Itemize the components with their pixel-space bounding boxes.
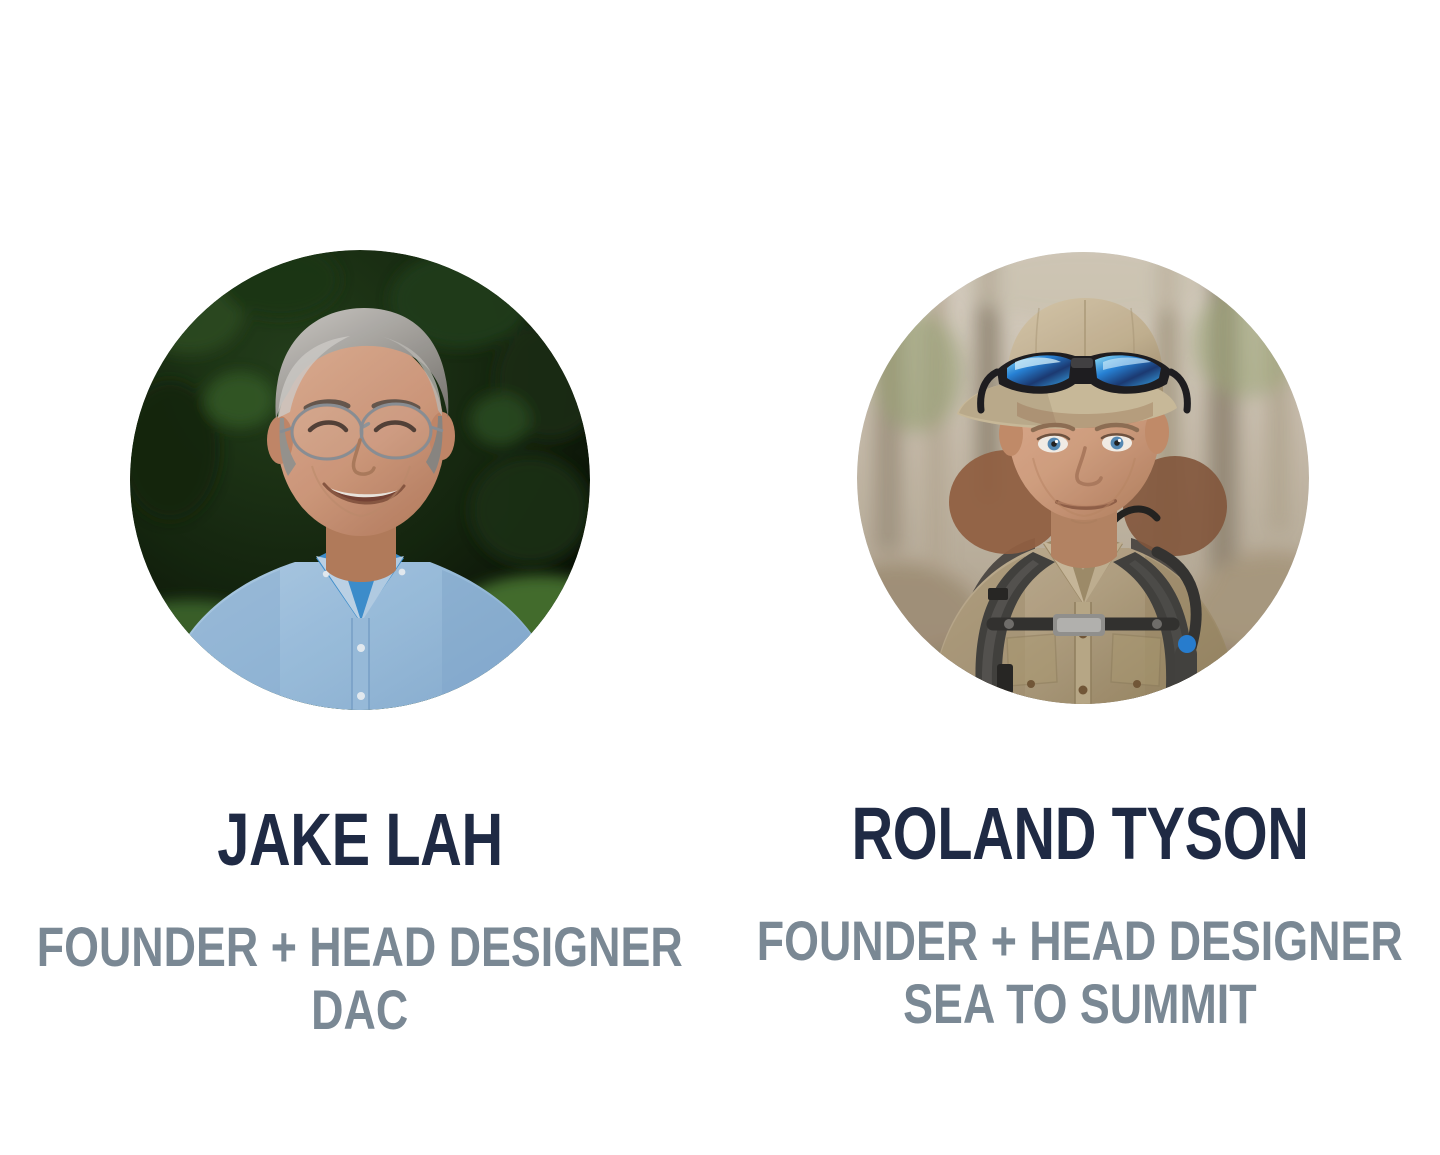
member-role-line-2: SEA TO SUMMIT (903, 972, 1256, 1035)
member-name-wrap: JAKE LAH (0, 803, 720, 873)
team-member-card: ROLAND TYSON FOUNDER + HEAD DESIGNER SEA… (720, 0, 1440, 1155)
member-role-line-1: FOUNDER + HEAD DESIGNER (757, 909, 1403, 972)
team-member-grid: JAKE LAH FOUNDER + HEAD DESIGNER DAC (0, 0, 1440, 1155)
member-portrait-jake-lah (130, 250, 590, 710)
member-portrait-roland-tyson (857, 252, 1309, 704)
member-name: ROLAND TYSON (851, 797, 1308, 871)
team-member-card: JAKE LAH FOUNDER + HEAD DESIGNER DAC (0, 0, 720, 1155)
portrait-photo-jake-lah (130, 250, 590, 710)
member-role-line-2: DAC (311, 978, 408, 1041)
member-name-wrap: ROLAND TYSON (720, 797, 1440, 867)
member-name: JAKE LAH (217, 803, 503, 877)
member-role-wrap: FOUNDER + HEAD DESIGNER DAC (0, 915, 720, 1041)
member-role-line-1: FOUNDER + HEAD DESIGNER (37, 915, 683, 978)
member-role-wrap: FOUNDER + HEAD DESIGNER SEA TO SUMMIT (720, 909, 1440, 1035)
portrait-photo-roland-tyson (857, 252, 1309, 704)
